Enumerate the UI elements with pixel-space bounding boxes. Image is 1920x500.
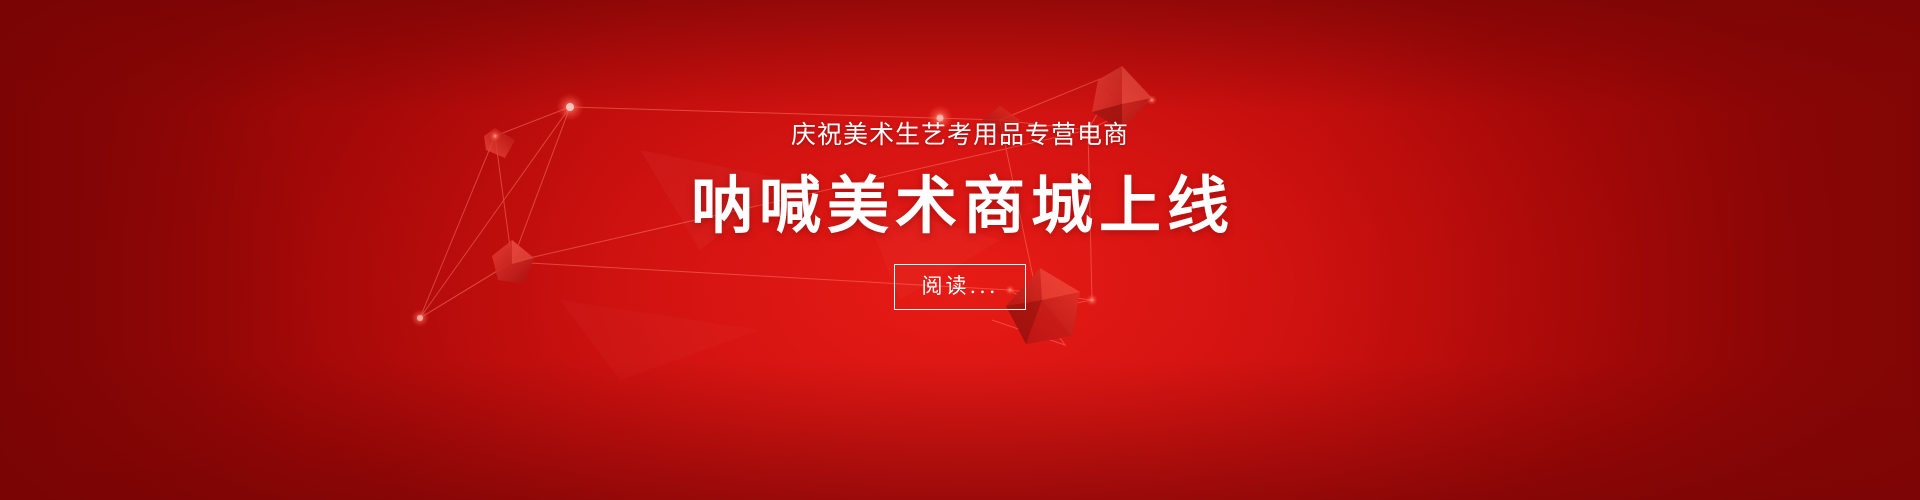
read-more-button[interactable]: 阅读... [894, 264, 1025, 310]
low-poly-decoration [0, 0, 1920, 500]
promo-banner: 庆祝美术生艺考用品专营电商 呐喊美术商城上线 阅读... [0, 0, 1920, 500]
crystal-shapes [484, 66, 1152, 380]
